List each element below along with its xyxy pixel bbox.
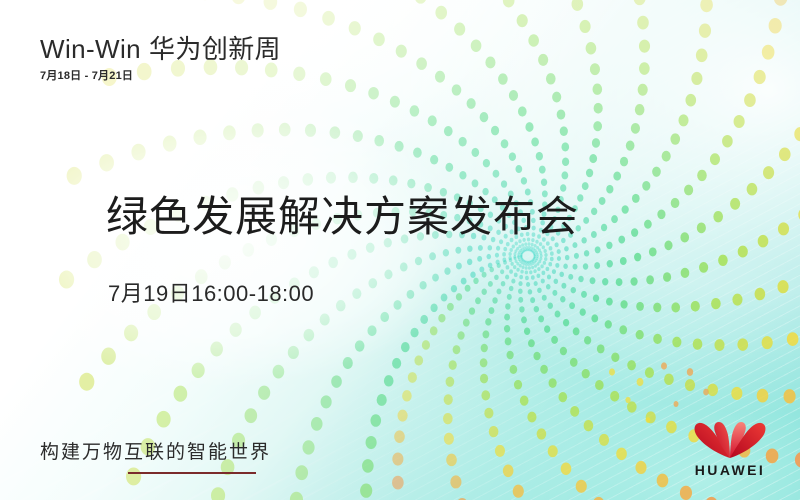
event-name-en: Win-Win <box>40 34 141 64</box>
poster-canvas: Win-Win华为创新周 7月18日 - 7月21日 绿色发展解决方案发布会 7… <box>0 0 800 500</box>
page-title: 绿色发展解决方案发布会 <box>106 183 579 244</box>
huawei-wordmark: HUAWEI <box>684 462 776 478</box>
huawei-petal-icon <box>684 420 776 460</box>
slogan-block: 构建万物互联的智能世界 <box>40 437 271 474</box>
event-date-range: 7月18日 - 7月21日 <box>40 71 281 82</box>
company-slogan: 构建万物互联的智能世界 <box>40 437 271 464</box>
brand-lockup: Win-Win华为创新周 7月18日 - 7月21日 <box>40 36 281 82</box>
event-name: Win-Win华为创新周 <box>40 36 281 62</box>
event-name-cn: 华为创新周 <box>149 34 281 64</box>
huawei-logo: HUAWEI <box>684 420 776 478</box>
session-datetime: 7月19日16:00-18:00 <box>108 276 314 308</box>
slogan-underline-rule <box>128 472 256 474</box>
